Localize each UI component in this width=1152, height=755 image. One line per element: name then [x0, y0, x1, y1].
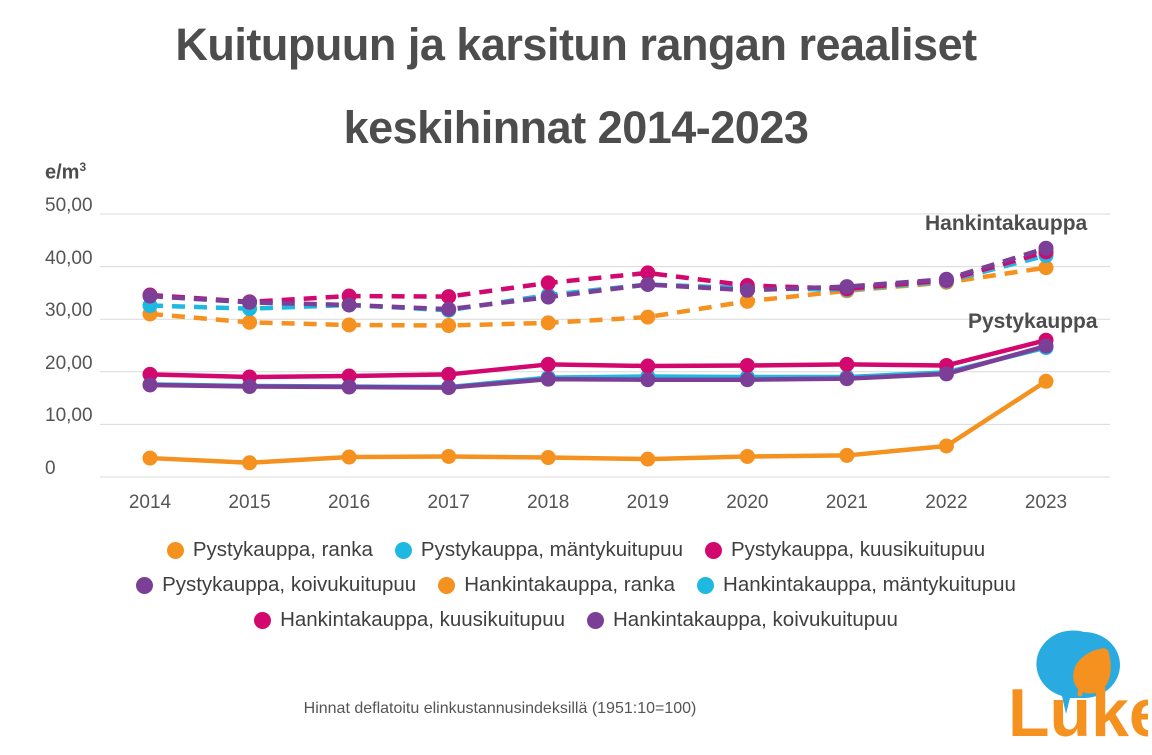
- series-point: [939, 272, 954, 287]
- series-point: [242, 315, 257, 330]
- series-point: [640, 452, 655, 467]
- series-point: [740, 358, 755, 373]
- series-point: [143, 377, 158, 392]
- x-axis-tick-label: 2018: [527, 492, 569, 514]
- legend-swatch-icon: [136, 577, 153, 594]
- series-point: [839, 279, 854, 294]
- luke-logo: Luke: [1008, 630, 1148, 742]
- series-point: [839, 448, 854, 463]
- series-point: [143, 451, 158, 466]
- series-point: [939, 438, 954, 453]
- y-axis-tick-label: 20,00: [45, 353, 93, 375]
- series-point: [1039, 241, 1054, 256]
- series-point: [839, 357, 854, 372]
- chart-series: [143, 248, 1054, 318]
- series-point: [640, 372, 655, 387]
- series-point: [242, 379, 257, 394]
- series-point: [441, 302, 456, 317]
- y-axis-tick-label: 50,00: [45, 195, 93, 217]
- legend-row: Pystykauppa, rankaPystykauppa, mäntykuit…: [0, 538, 1152, 562]
- x-axis-tick-label: 2022: [925, 492, 967, 514]
- series-line: [150, 252, 1046, 302]
- series-line: [150, 381, 1046, 463]
- legend-item[interactable]: Hankintakauppa, kuusikuitupuu: [254, 608, 565, 632]
- x-axis-tick-label: 2016: [328, 492, 370, 514]
- series-point: [939, 366, 954, 381]
- series-point: [342, 297, 357, 312]
- annotation-hankintakauppa: Hankintakauppa: [925, 212, 1087, 236]
- chart-series: [143, 244, 1054, 309]
- chart-legend: Pystykauppa, rankaPystykauppa, mäntykuit…: [0, 538, 1152, 643]
- chart-footnote: Hinnat deflatoitu elinkustannusindeksill…: [0, 700, 1000, 718]
- x-axis-tick-label: 2014: [129, 492, 171, 514]
- y-axis-tick-label: 40,00: [45, 248, 93, 270]
- series-point: [541, 450, 556, 465]
- series-point: [342, 380, 357, 395]
- series-point: [1039, 374, 1054, 389]
- series-point: [740, 283, 755, 298]
- series-point: [342, 317, 357, 332]
- series-point: [541, 275, 556, 290]
- series-point: [541, 357, 556, 372]
- legend-item-label: Pystykauppa, koivukuitupuu: [162, 573, 416, 597]
- series-point: [441, 367, 456, 382]
- series-point: [441, 380, 456, 395]
- y-axis-tick-label: 30,00: [45, 300, 93, 322]
- legend-row: Pystykauppa, koivukuitupuuHankintakauppa…: [0, 573, 1152, 597]
- legend-swatch-icon: [697, 577, 714, 594]
- series-point: [740, 449, 755, 464]
- legend-item[interactable]: Pystykauppa, koivukuitupuu: [136, 573, 416, 597]
- legend-item-label: Pystykauppa, ranka: [193, 538, 373, 562]
- legend-swatch-icon: [395, 542, 412, 559]
- legend-swatch-icon: [587, 612, 604, 629]
- legend-item-label: Hankintakauppa, kuusikuitupuu: [280, 608, 565, 632]
- series-point: [143, 289, 158, 304]
- series-point: [242, 455, 257, 470]
- legend-item-label: Hankintakauppa, koivukuitupuu: [613, 608, 898, 632]
- series-point: [640, 310, 655, 325]
- luke-logo-svg: Luke: [1008, 630, 1148, 742]
- series-point: [1039, 339, 1054, 354]
- legend-item[interactable]: Hankintakauppa, mäntykuitupuu: [697, 573, 1016, 597]
- x-axis-tick-label: 2019: [627, 492, 669, 514]
- legend-row: Hankintakauppa, kuusikuitupuuHankintakau…: [0, 608, 1152, 632]
- legend-swatch-icon: [438, 577, 455, 594]
- legend-item[interactable]: Pystykauppa, ranka: [167, 538, 373, 562]
- chart-series: [143, 260, 1054, 333]
- legend-item-label: Hankintakauppa, ranka: [464, 573, 675, 597]
- series-point: [640, 359, 655, 374]
- legend-swatch-icon: [254, 612, 271, 629]
- luke-logo-text: Luke: [1008, 675, 1148, 742]
- series-point: [242, 295, 257, 310]
- x-axis-tick-label: 2023: [1025, 492, 1067, 514]
- y-axis-tick-label: 10,00: [45, 405, 93, 427]
- legend-item[interactable]: Hankintakauppa, ranka: [438, 573, 675, 597]
- x-axis-tick-label: 2017: [428, 492, 470, 514]
- legend-item-label: Pystykauppa, kuusikuitupuu: [731, 538, 985, 562]
- y-axis-tick-label: 0: [45, 458, 56, 480]
- x-axis-tick-label: 2015: [228, 492, 270, 514]
- annotation-pystykauppa: Pystykauppa: [968, 310, 1098, 334]
- series-point: [541, 372, 556, 387]
- legend-swatch-icon: [167, 542, 184, 559]
- series-point: [640, 277, 655, 292]
- series-point: [441, 449, 456, 464]
- series-point: [342, 450, 357, 465]
- x-axis-tick-label: 2021: [826, 492, 868, 514]
- legend-item-label: Pystykauppa, mäntykuitupuu: [421, 538, 683, 562]
- series-point: [740, 372, 755, 387]
- legend-item[interactable]: Pystykauppa, mäntykuitupuu: [395, 538, 683, 562]
- legend-swatch-icon: [705, 542, 722, 559]
- series-point: [839, 371, 854, 386]
- legend-item-label: Hankintakauppa, mäntykuitupuu: [723, 573, 1016, 597]
- legend-item[interactable]: Hankintakauppa, koivukuitupuu: [587, 608, 898, 632]
- series-point: [541, 315, 556, 330]
- legend-item[interactable]: Pystykauppa, kuusikuitupuu: [705, 538, 985, 562]
- series-point: [541, 290, 556, 305]
- series-point: [441, 318, 456, 333]
- x-axis-tick-label: 2020: [726, 492, 768, 514]
